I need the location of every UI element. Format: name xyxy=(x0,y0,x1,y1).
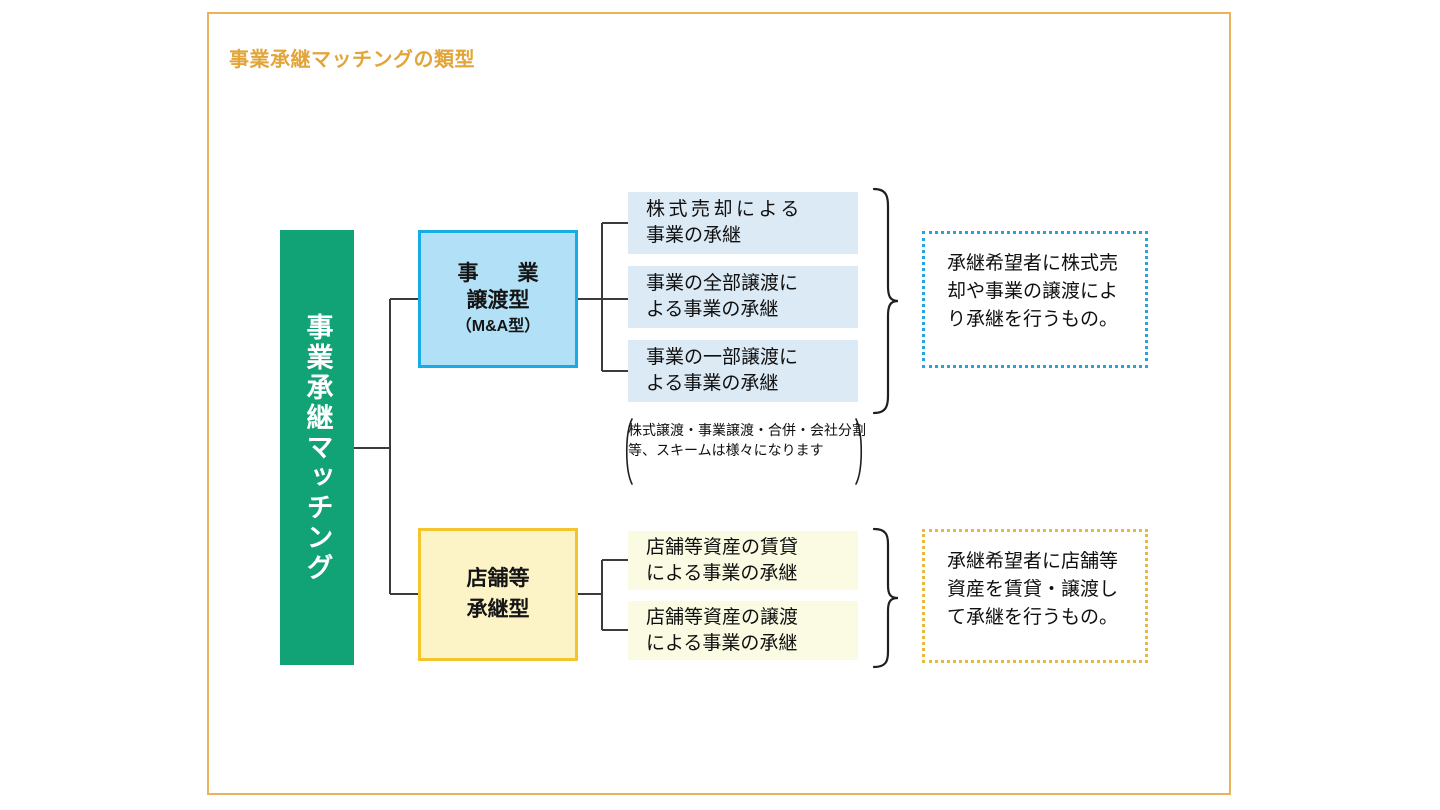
leaf-y2-line1: 店舗等資産の譲渡 xyxy=(646,605,798,631)
leaf-box-share-sale[interactable]: 株式売却による 事業の承継 xyxy=(628,192,858,254)
category-ma-line2: 譲渡型 xyxy=(467,287,530,315)
leaf-b1-line1: 株式売却による xyxy=(646,197,803,223)
leaf-box-partial-transfer[interactable]: 事業の一部譲渡に よる事業の承継 xyxy=(628,340,858,402)
leaf-b3-line1: 事業の一部譲渡に xyxy=(646,345,798,371)
leaf-box-store-transfer[interactable]: 店舗等資産の譲渡 による事業の承継 xyxy=(628,601,858,660)
category-store-line2: 承継型 xyxy=(467,595,530,625)
diagram-frame xyxy=(207,12,1231,795)
leaf-box-store-lease[interactable]: 店舗等資産の賃貸 による事業の承継 xyxy=(628,531,858,590)
leaf-y1-line1: 店舗等資産の賃貸 xyxy=(646,535,798,561)
category-ma-line1: 事 業 xyxy=(449,260,548,288)
leaf-y2-line2: による事業の承継 xyxy=(646,631,798,657)
leaf-b2-line2: よる事業の承継 xyxy=(646,297,798,323)
category-box-business-transfer[interactable]: 事 業 譲渡型 （M&A型） xyxy=(418,230,578,368)
category-ma-line3: （M&A型） xyxy=(456,315,540,338)
summary-box-business-transfer: 承継希望者に株式売却や事業の譲渡により承継を行うもの。 xyxy=(922,231,1148,368)
leaf-box-full-transfer[interactable]: 事業の全部譲渡に よる事業の承継 xyxy=(628,266,858,328)
leaf-y1-line2: による事業の承継 xyxy=(646,561,798,587)
root-node-matching[interactable]: 事業承継マッチング xyxy=(280,230,354,665)
root-node-label: 事業承継マッチング xyxy=(304,313,331,583)
page-title: 事業承継マッチングの類型 xyxy=(229,43,475,72)
category-box-store-succession[interactable]: 店舗等 承継型 xyxy=(418,528,578,661)
scheme-note: 株式譲渡・事業譲渡・合併・会社分割等、スキームは様々になります xyxy=(628,420,868,461)
summary-box-store-succession: 承継希望者に店舗等資産を賃貸・譲渡して承継を行うもの。 xyxy=(922,529,1148,663)
leaf-b1-line2: 事業の承継 xyxy=(646,223,803,249)
leaf-b3-line2: よる事業の承継 xyxy=(646,371,798,397)
leaf-b2-line1: 事業の全部譲渡に xyxy=(646,271,798,297)
category-store-line1: 店舗等 xyxy=(467,564,530,594)
